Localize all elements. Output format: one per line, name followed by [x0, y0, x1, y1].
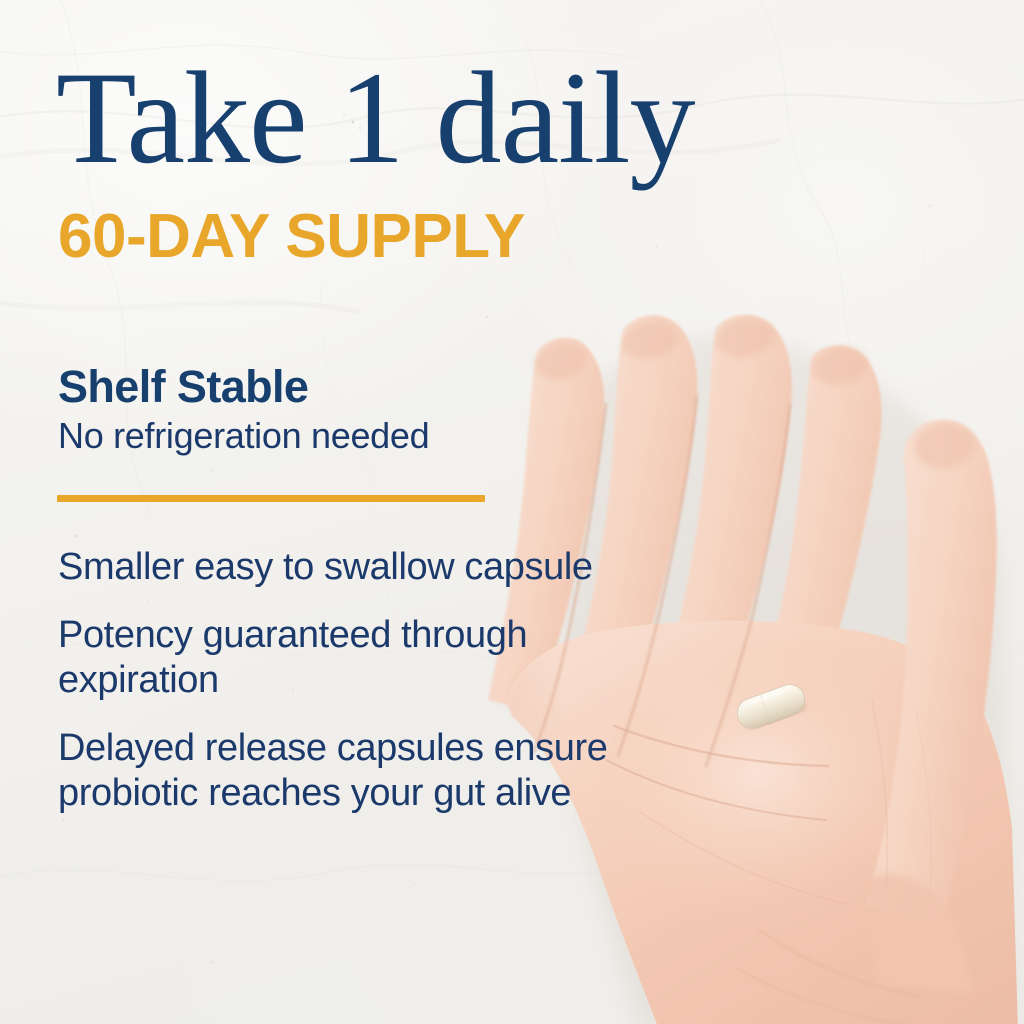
benefit-item: Potency guaranteed through expiration	[58, 613, 658, 702]
benefit-item: Smaller easy to swallow capsule	[58, 545, 658, 589]
gold-divider	[57, 495, 485, 502]
benefit-item: Delayed release capsules ensure probioti…	[58, 726, 658, 815]
product-benefit-card: Take 1 daily 60-DAY SUPPLY Shelf Stable …	[0, 0, 1024, 1024]
feature-subtitle: No refrigeration needed	[58, 418, 429, 454]
benefit-list: Smaller easy to swallow capsule Potency …	[58, 545, 658, 815]
supply-subtitle: 60-DAY SUPPLY	[58, 206, 525, 268]
page-title: Take 1 daily	[56, 52, 695, 184]
feature-title: Shelf Stable	[58, 364, 308, 409]
